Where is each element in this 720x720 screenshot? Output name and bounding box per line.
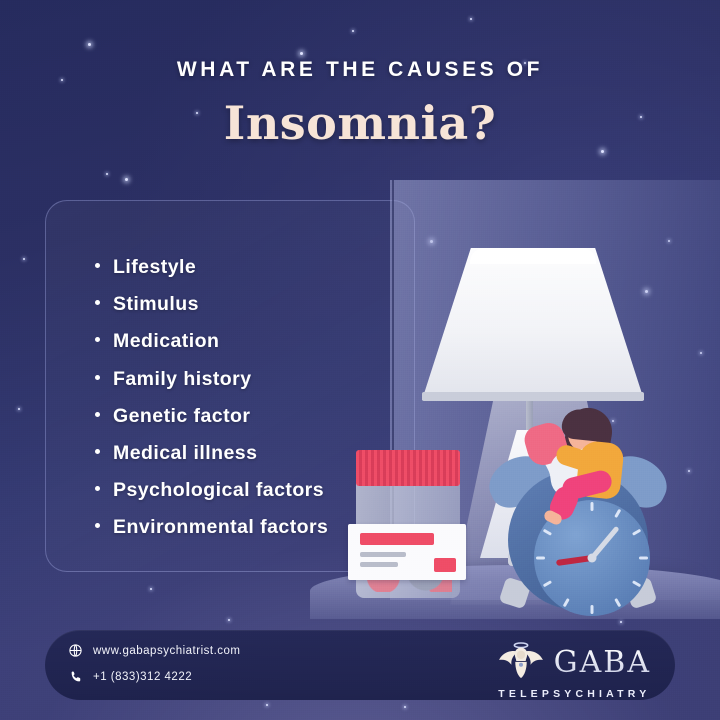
bullet-icon bbox=[95, 263, 100, 268]
lamp-shade-top bbox=[470, 248, 596, 264]
bottle-cap bbox=[356, 450, 460, 486]
lamp-rim bbox=[422, 392, 644, 401]
bullet-icon bbox=[95, 449, 100, 454]
globe-icon bbox=[67, 642, 84, 659]
clock-tick bbox=[632, 529, 641, 536]
bullet-icon bbox=[95, 412, 100, 417]
clock-tick bbox=[639, 557, 648, 560]
clock-tick bbox=[591, 605, 594, 614]
phone-icon bbox=[67, 668, 84, 685]
cause-label: Family history bbox=[113, 368, 252, 391]
clock-tick bbox=[563, 598, 570, 607]
angel-icon bbox=[498, 640, 544, 685]
bedroom-illustration bbox=[330, 180, 720, 630]
pill-bottle-icon bbox=[356, 450, 460, 598]
brand-name: GABA bbox=[554, 645, 651, 680]
cause-label: Lifestyle bbox=[113, 256, 196, 279]
cause-label: Medication bbox=[113, 330, 219, 353]
phone-text: +1 (833)312 4222 bbox=[93, 671, 192, 683]
cause-label: Psychological factors bbox=[113, 479, 324, 502]
label-text-line bbox=[360, 552, 406, 557]
brand-logo-block: GABA TELEPSYCHIATRY bbox=[498, 640, 651, 700]
poster-header: WHAT ARE THE CAUSES OF Insomnia? bbox=[0, 58, 720, 150]
woman-figure bbox=[526, 408, 638, 526]
clock-center-pin bbox=[588, 554, 597, 563]
poster-kicker: WHAT ARE THE CAUSES OF bbox=[0, 58, 720, 82]
clock-tick bbox=[632, 580, 641, 587]
insomnia-poster: WHAT ARE THE CAUSES OF Insomnia? Lifesty… bbox=[0, 0, 720, 720]
cause-label: Genetic factor bbox=[113, 405, 250, 428]
footer-bar: www.gabapsychiatrist.com +1 (833)312 422… bbox=[45, 630, 675, 700]
bullet-icon bbox=[95, 486, 100, 491]
contact-info: www.gabapsychiatrist.com +1 (833)312 422… bbox=[67, 642, 241, 685]
label-accent-square bbox=[434, 558, 456, 572]
page-title: Insomnia? bbox=[0, 96, 720, 150]
label-title-bar bbox=[360, 533, 434, 545]
phone-row[interactable]: +1 (833)312 4222 bbox=[67, 668, 241, 685]
website-row[interactable]: www.gabapsychiatrist.com bbox=[67, 642, 241, 659]
website-text: www.gabapsychiatrist.com bbox=[93, 645, 241, 657]
clock-tick bbox=[543, 529, 552, 536]
brand-tagline: TELEPSYCHIATRY bbox=[498, 688, 650, 700]
bullet-icon bbox=[95, 375, 100, 380]
cause-label: Stimulus bbox=[113, 293, 199, 316]
brand-top-row: GABA bbox=[498, 640, 651, 685]
clock-tick bbox=[536, 557, 545, 560]
cause-label: Environmental factors bbox=[113, 516, 328, 539]
bullet-icon bbox=[95, 300, 100, 305]
bullet-icon bbox=[95, 337, 100, 342]
clock-tick bbox=[543, 580, 552, 587]
clock-tick bbox=[614, 598, 621, 607]
cause-label: Medical illness bbox=[113, 442, 257, 465]
bullet-icon bbox=[95, 523, 100, 528]
label-text-line bbox=[360, 562, 398, 567]
bottle-label bbox=[348, 524, 466, 580]
